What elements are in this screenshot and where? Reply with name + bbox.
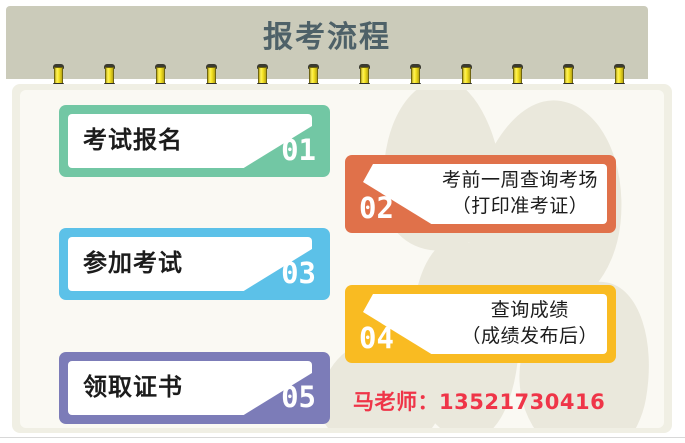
bottom-divider — [0, 437, 685, 438]
step-card-04[interactable]: 04 查询成绩 （成绩发布后） — [345, 285, 616, 363]
page-title: 报考流程 — [6, 20, 648, 56]
step-card-02[interactable]: 02 考前一周查询考场 （打印准考证） — [345, 155, 616, 233]
contact-info: 马老师：13521730416 — [353, 389, 605, 415]
step-card-number: 01 — [281, 134, 316, 166]
step-card-label: 领取证书 — [83, 373, 183, 401]
notebook-header-bar: 报考流程 — [6, 6, 648, 79]
step-card-number: 02 — [359, 192, 394, 224]
step-card-03[interactable]: 参加考试 03 — [59, 228, 330, 300]
step-card-05[interactable]: 领取证书 05 — [59, 352, 330, 424]
step-card-label-line1: 考前一周查询考场 — [442, 167, 598, 193]
step-card-number: 04 — [359, 322, 394, 354]
step-card-01[interactable]: 考试报名 01 — [59, 105, 330, 177]
step-card-label: 参加考试 — [83, 249, 183, 277]
step-card-label: 查询成绩 （成绩发布后） — [461, 297, 598, 349]
step-card-number: 05 — [281, 381, 316, 413]
flowchart-poster: 报考流程 — [0, 0, 685, 443]
step-card-label: 考试报名 — [83, 126, 183, 154]
step-card-label: 考前一周查询考场 （打印准考证） — [442, 167, 598, 219]
step-card-label-line1: 查询成绩 — [461, 297, 598, 323]
step-card-label-line2: （成绩发布后） — [461, 323, 598, 349]
step-card-number: 03 — [281, 257, 316, 289]
step-card-label-line2: （打印准考证） — [442, 193, 598, 219]
